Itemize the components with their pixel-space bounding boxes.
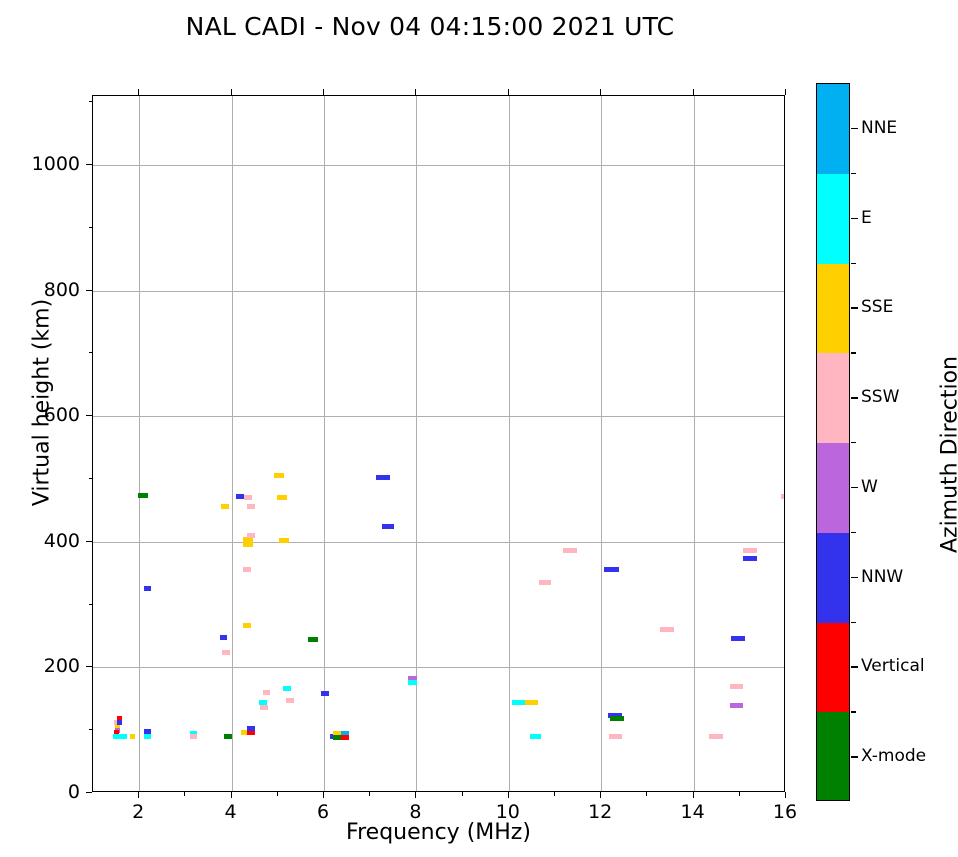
y-axis-minor-tick <box>89 478 93 479</box>
echo-mark <box>321 691 329 696</box>
gridline-vertical <box>601 96 602 791</box>
colorbar-label-x-mode: X-mode <box>861 746 926 766</box>
echo-mark <box>341 735 349 740</box>
echo-mark <box>260 705 267 710</box>
y-axis-tick <box>86 164 92 165</box>
colorbar-band-vertical[interactable] <box>817 623 849 713</box>
echo-mark <box>376 475 390 480</box>
y-axis-minor-tick <box>89 729 93 730</box>
echo-mark <box>286 698 293 703</box>
echo-mark <box>247 726 254 731</box>
echo-mark <box>660 627 674 632</box>
colorbar-label-vertical: Vertical <box>861 656 925 676</box>
echo-mark <box>243 567 251 572</box>
y-axis-minor-tick <box>89 604 93 605</box>
y-axis-tick <box>86 792 92 793</box>
colorbar-boundary-tick <box>851 622 856 623</box>
y-axis-tick-label: 1000 <box>18 153 80 175</box>
colorbar-tick <box>851 487 858 488</box>
echo-mark <box>138 493 148 498</box>
colorbar-label-nnw: NNW <box>861 567 903 587</box>
echo-mark <box>743 548 758 553</box>
gridline-vertical <box>324 96 325 791</box>
colorbar-label-w: W <box>861 477 878 497</box>
plot-area <box>92 95 785 792</box>
x-axis-tick <box>600 792 601 798</box>
echo-mark <box>247 504 255 509</box>
colorbar-tick <box>851 397 858 398</box>
echo-mark <box>512 700 526 705</box>
y-axis-tick <box>86 666 92 667</box>
x-axis-tick-top <box>323 89 324 95</box>
colorbar-label-sse: SSE <box>861 297 893 317</box>
echo-mark <box>274 473 284 478</box>
echo-mark <box>236 494 243 499</box>
echo-mark <box>781 494 784 499</box>
colorbar-title: Azimuth Direction <box>938 305 958 605</box>
x-axis-tick <box>785 792 786 798</box>
echo-mark <box>247 533 254 538</box>
colorbar-boundary-tick <box>851 173 856 174</box>
colorbar-label-e: E <box>861 208 872 228</box>
x-axis-label: Frequency (MHz) <box>92 820 785 845</box>
colorbar-band-ssw[interactable] <box>817 353 849 443</box>
echo-mark <box>243 542 253 547</box>
echo-mark <box>222 650 229 655</box>
colorbar-boundary-tick <box>851 532 856 533</box>
colorbar-band-w[interactable] <box>817 443 849 533</box>
x-axis-minor-tick <box>462 792 463 796</box>
colorbar-label-nne: NNE <box>861 118 897 138</box>
colorbar-boundary-tick <box>851 263 856 264</box>
x-axis-tick <box>231 792 232 798</box>
y-axis-minor-tick <box>89 227 93 228</box>
y-axis-tick <box>86 290 92 291</box>
echo-mark <box>609 734 622 739</box>
echo-mark <box>221 504 229 509</box>
echo-mark <box>408 680 417 685</box>
colorbar-boundary-tick <box>851 352 856 353</box>
echo-mark <box>243 623 251 628</box>
colorbar-tick <box>851 218 858 219</box>
colorbar-boundary-tick <box>851 711 856 712</box>
gridline-vertical <box>694 96 695 791</box>
echo-mark <box>144 734 151 739</box>
echo-mark <box>277 495 287 500</box>
echo-mark <box>120 734 127 739</box>
echo-mark <box>308 637 318 642</box>
x-axis-tick-top <box>508 89 509 95</box>
echo-mark <box>144 586 150 591</box>
gridline-vertical <box>509 96 510 791</box>
echo-mark <box>743 556 758 561</box>
plot-canvas <box>93 96 784 791</box>
x-axis-tick-top <box>415 89 416 95</box>
y-axis-tick <box>86 415 92 416</box>
colorbar-tick <box>851 577 858 578</box>
colorbar-tick <box>851 307 858 308</box>
echo-mark <box>610 716 625 721</box>
colorbar-band-nne[interactable] <box>817 84 849 174</box>
y-axis-tick-label: 0 <box>18 781 80 803</box>
x-axis-tick-top <box>138 89 139 95</box>
x-axis-minor-tick <box>277 792 278 796</box>
gridline-horizontal <box>93 291 784 292</box>
y-axis-minor-tick <box>89 101 93 102</box>
y-axis-tick-label: 200 <box>18 655 80 677</box>
x-axis-tick-top <box>600 89 601 95</box>
echo-mark <box>244 495 252 500</box>
echo-mark <box>539 580 551 585</box>
colorbar-label-ssw: SSW <box>861 387 899 407</box>
x-axis-tick <box>415 792 416 798</box>
echo-mark <box>130 734 135 739</box>
echo-mark <box>382 524 394 529</box>
echo-mark <box>190 734 196 739</box>
echo-mark <box>263 690 270 695</box>
x-axis-tick <box>138 792 139 798</box>
echo-mark <box>731 636 745 641</box>
colorbar-boundary-tick <box>851 442 856 443</box>
y-axis-tick <box>86 541 92 542</box>
colorbar-band-e[interactable] <box>817 174 849 264</box>
colorbar-legend <box>816 83 850 801</box>
page-title: NAL CADI - Nov 04 04:15:00 2021 UTC <box>0 12 860 41</box>
colorbar-tick <box>851 128 858 129</box>
colorbar-band-x-mode[interactable] <box>817 712 849 801</box>
y-axis-minor-tick <box>89 352 93 353</box>
colorbar-tick <box>851 666 858 667</box>
ionogram-figure: NAL CADI - Nov 04 04:15:00 2021 UTC 2468… <box>0 0 958 857</box>
y-axis-label: Virtual height (km) <box>30 253 55 553</box>
echo-mark <box>730 684 743 689</box>
colorbar-tick <box>851 756 858 757</box>
x-axis-minor-tick <box>646 792 647 796</box>
gridline-horizontal <box>93 542 784 543</box>
echo-mark <box>525 700 538 705</box>
gridline-vertical <box>232 96 233 791</box>
x-axis-minor-tick <box>369 792 370 796</box>
x-axis-tick <box>323 792 324 798</box>
colorbar-band-nnw[interactable] <box>817 533 849 623</box>
colorbar-band-sse[interactable] <box>817 264 849 354</box>
x-axis-tick-top <box>231 89 232 95</box>
x-axis-tick-top <box>693 89 694 95</box>
x-axis-minor-tick <box>554 792 555 796</box>
echo-mark <box>220 635 227 640</box>
x-axis-tick-top <box>785 89 786 95</box>
echo-mark <box>224 734 231 739</box>
gridline-vertical <box>416 96 417 791</box>
echo-mark <box>279 538 289 543</box>
gridline-horizontal <box>93 667 784 668</box>
gridline-horizontal <box>93 416 784 417</box>
echo-mark <box>117 720 122 725</box>
echo-mark <box>333 735 341 740</box>
x-axis-minor-tick <box>184 792 185 796</box>
echo-mark <box>283 686 291 691</box>
x-axis-tick <box>508 792 509 798</box>
echo-mark <box>604 567 619 572</box>
echo-mark <box>709 734 723 739</box>
echo-mark <box>530 734 541 739</box>
echo-mark <box>730 703 743 708</box>
gridline-vertical <box>139 96 140 791</box>
echo-mark <box>563 548 577 553</box>
x-axis-minor-tick <box>739 792 740 796</box>
x-axis-tick <box>693 792 694 798</box>
gridline-horizontal <box>93 165 784 166</box>
